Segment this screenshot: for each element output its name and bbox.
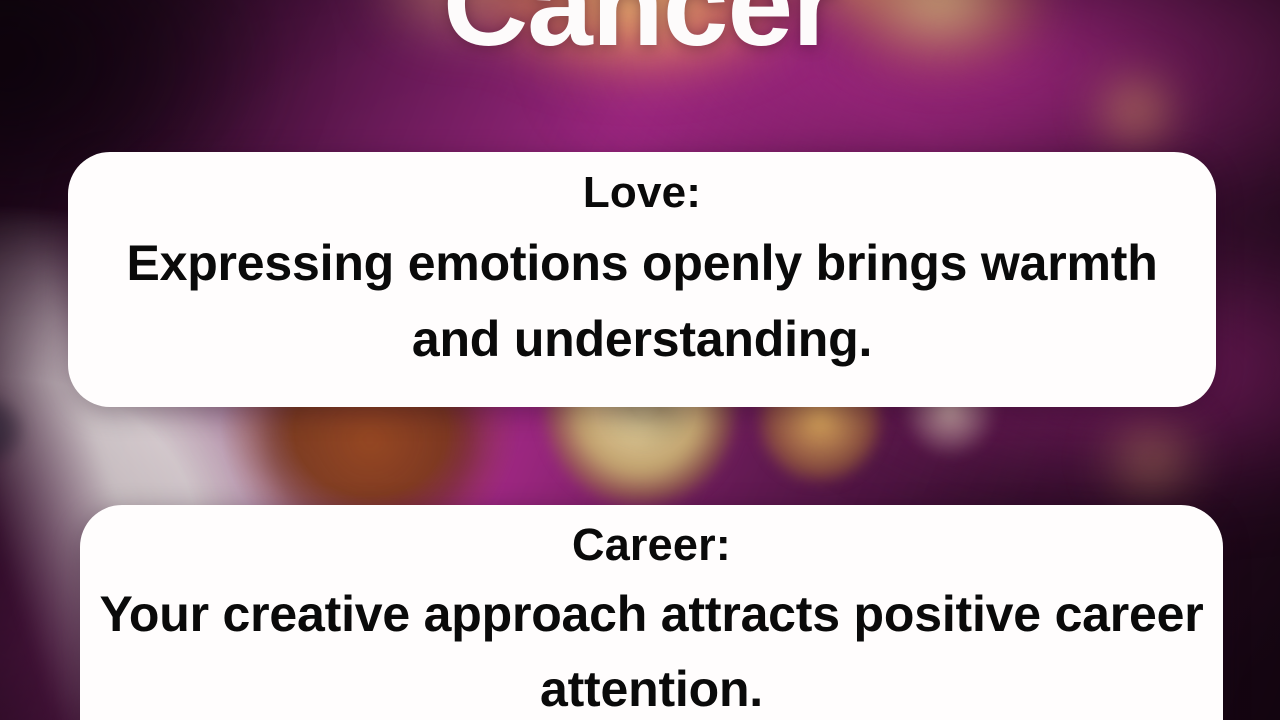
love-card-body: Expressing emotions openly brings warmth… bbox=[82, 225, 1202, 377]
career-card-body: Your creative approach attracts positive… bbox=[94, 577, 1209, 720]
love-card-heading: Love: bbox=[82, 168, 1202, 219]
page-title: Cancer bbox=[0, 0, 1280, 64]
career-card: Career: Your creative approach attracts … bbox=[80, 505, 1223, 720]
love-card: Love: Expressing emotions openly brings … bbox=[68, 152, 1216, 407]
career-card-heading: Career: bbox=[94, 519, 1209, 571]
horoscope-slide: Cancer Love: Expressing emotions openly … bbox=[0, 0, 1280, 720]
